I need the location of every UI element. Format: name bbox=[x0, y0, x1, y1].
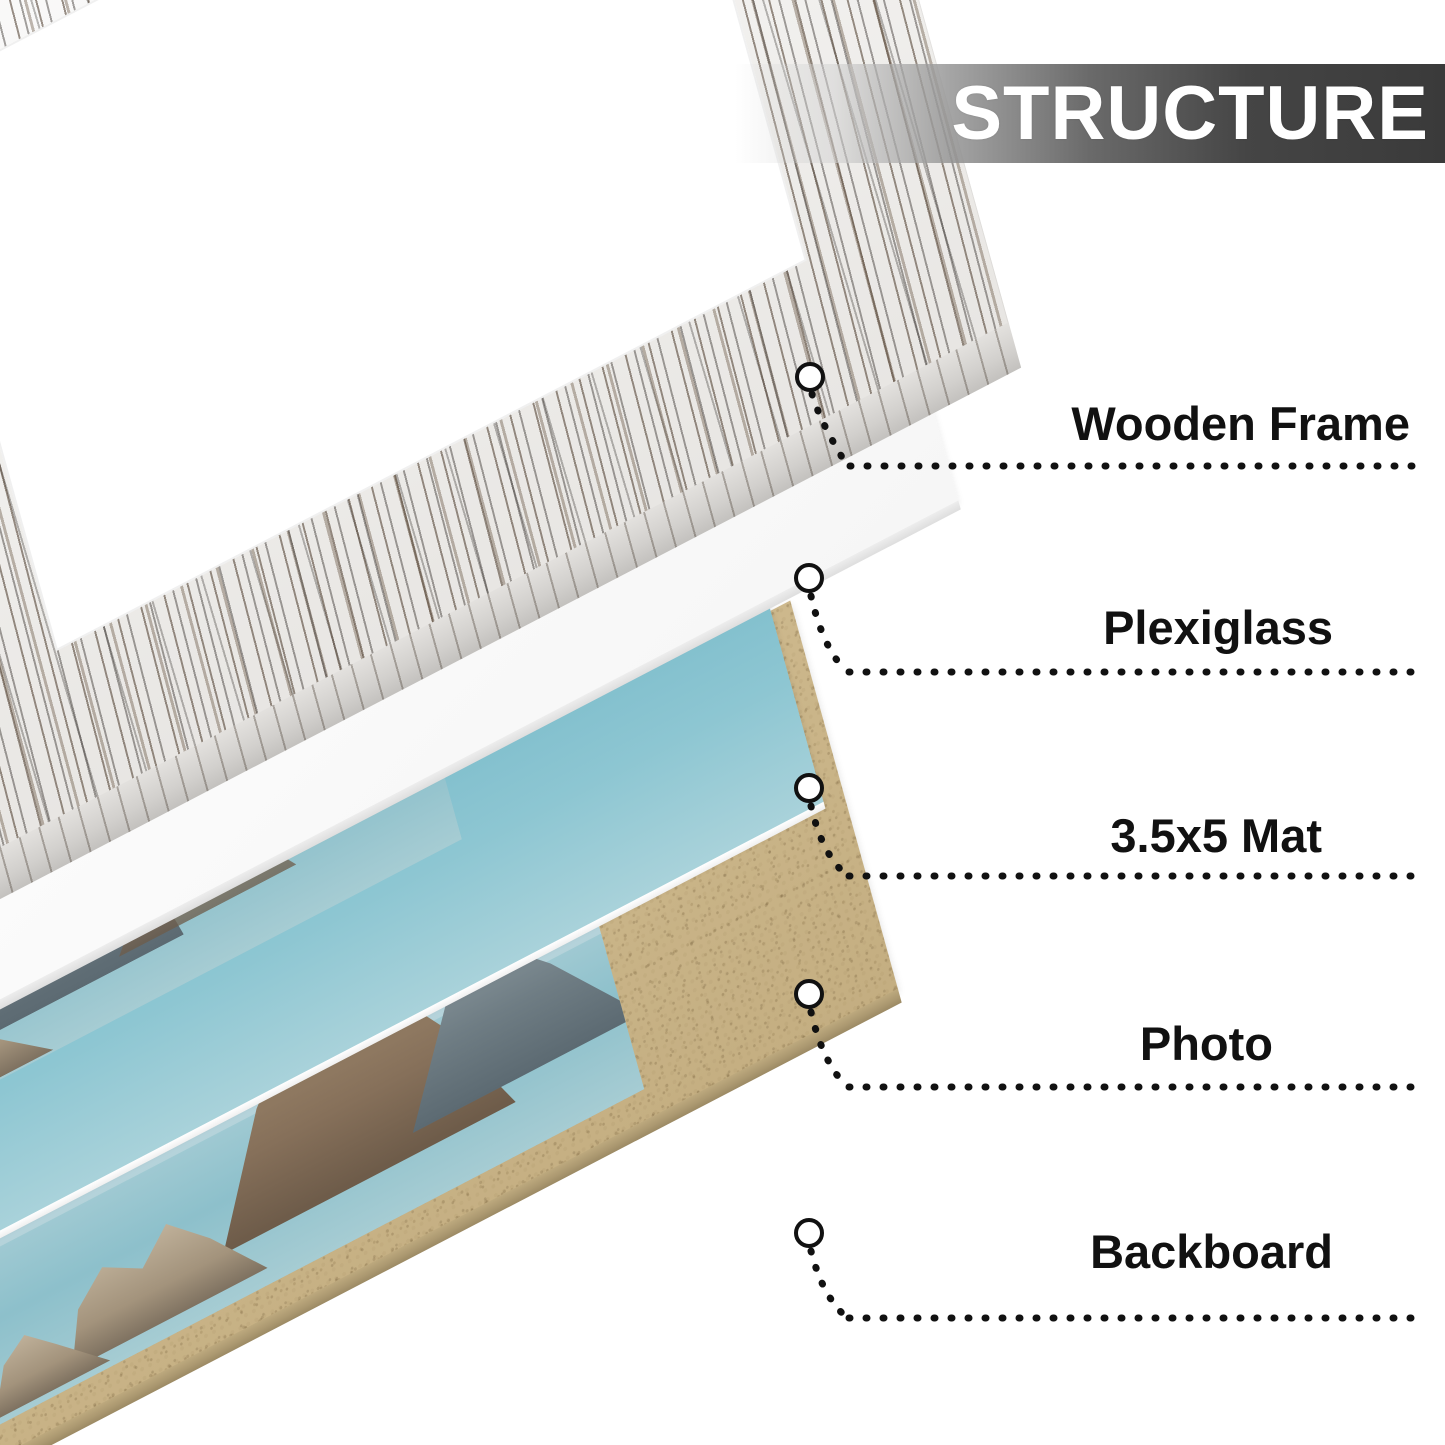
callout-label-backboard: Backboard bbox=[1090, 1228, 1333, 1275]
callout-label-photo: Photo bbox=[1140, 1020, 1273, 1067]
callout-dot-backboard[interactable] bbox=[794, 1218, 824, 1248]
callout-label-mat: 3.5x5 Mat bbox=[1110, 812, 1322, 859]
callout-dot-plexiglass[interactable] bbox=[794, 563, 824, 593]
callout-dot-wooden-frame[interactable] bbox=[795, 362, 825, 392]
product-structure-infographic: STRUCTURE Wooden Frame Plexiglass 3.5x5 … bbox=[0, 0, 1445, 1445]
callout-label-plexiglass: Plexiglass bbox=[1103, 604, 1333, 651]
leader-curve-plexiglass bbox=[811, 596, 845, 670]
banner-title: STRUCTURE bbox=[951, 76, 1429, 152]
callout-label-wooden-frame: Wooden Frame bbox=[1071, 400, 1410, 447]
callout-dot-photo[interactable] bbox=[794, 979, 824, 1009]
structure-banner: STRUCTURE bbox=[735, 64, 1445, 163]
leader-curve-backboard bbox=[811, 1251, 845, 1316]
callout-dot-mat[interactable] bbox=[794, 773, 824, 803]
